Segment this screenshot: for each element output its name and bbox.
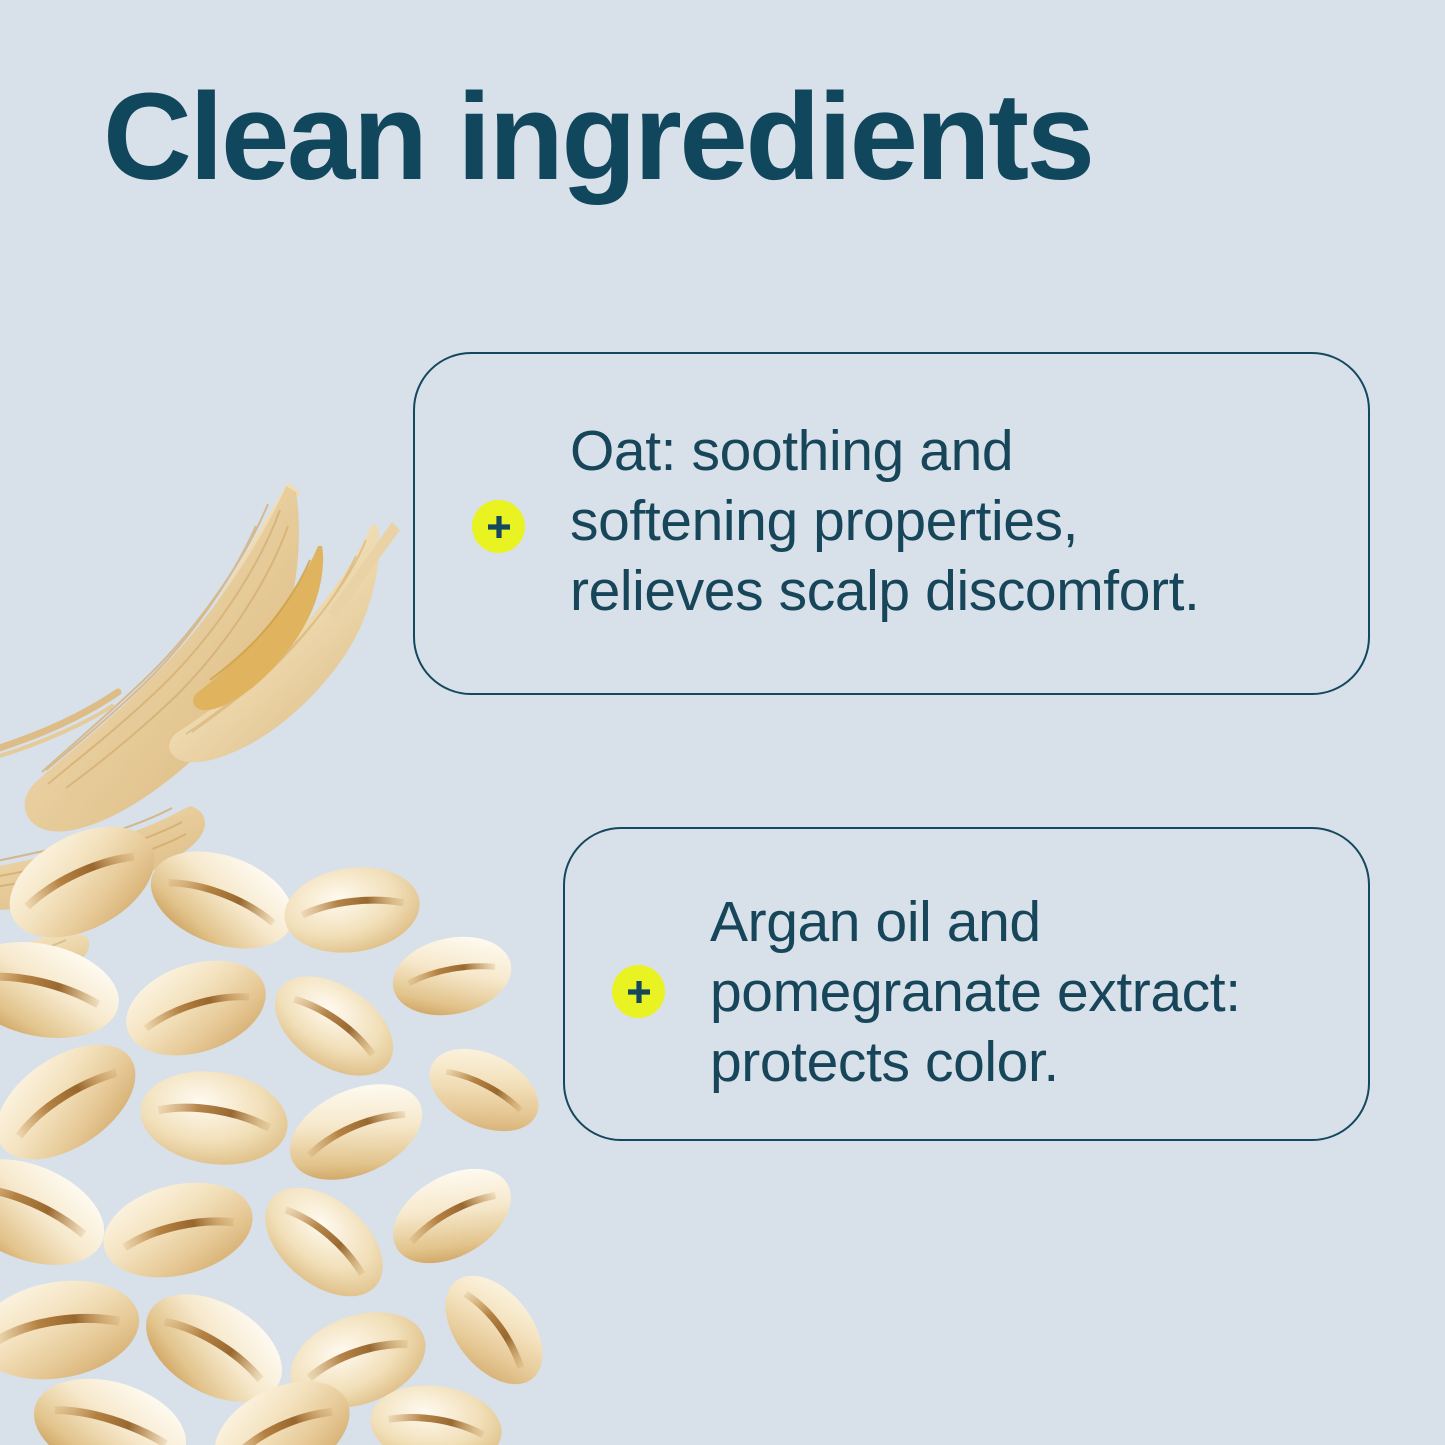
ingredient-card-argan-text: Argan oil and pomegranate extract: prote…	[710, 887, 1360, 1097]
ingredient-card-argan[interactable]: Argan oil and pomegranate extract: prote…	[563, 827, 1370, 1141]
ingredient-card-oat-text: Oat: soothing and softening properties, …	[570, 416, 1360, 626]
plus-icon	[612, 965, 665, 1018]
oat-flakes-group	[0, 804, 562, 1445]
oat-spikelet-cluster	[0, 482, 400, 992]
ingredient-card-oat[interactable]: Oat: soothing and softening properties, …	[413, 352, 1370, 695]
poster-canvas: Clean ingredients Oat: soothing and soft…	[0, 0, 1445, 1445]
plus-icon	[472, 500, 525, 553]
page-title: Clean ingredients	[103, 72, 1093, 205]
